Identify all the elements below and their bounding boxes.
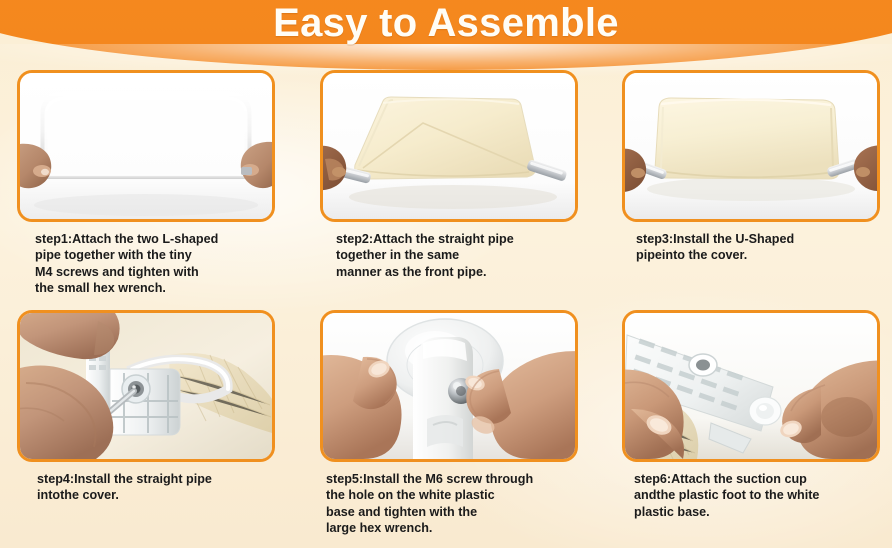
step-photo-4 — [17, 310, 275, 462]
step-caption-2: step2:Attach the straight pipe together … — [320, 231, 584, 280]
step-1-illustration — [20, 73, 272, 219]
step-6-illustration — [625, 313, 877, 459]
step-3-illustration — [625, 73, 877, 219]
left-hand-5 — [323, 355, 402, 459]
step-card-2: step2:Attach the straight pipe together … — [320, 70, 584, 280]
step-caption-1: step1:Attach the two L-shaped pipe toget… — [17, 231, 281, 297]
step-photo-2 — [320, 70, 578, 222]
step-card-3: step3:Install the U-Shaped pipeinto the … — [622, 70, 886, 264]
step-card-5: step5:Install the M6 screw through the h… — [320, 310, 584, 537]
assembly-instructions-page: Easy to Assemble — [0, 0, 892, 548]
page-title: Easy to Assemble — [0, 0, 892, 48]
step-photo-3 — [622, 70, 880, 222]
step-caption-5: step5:Install the M6 screw through the h… — [320, 471, 584, 537]
step-caption-3: step3:Install the U-Shaped pipeinto the … — [622, 231, 886, 264]
step-card-6: step6:Attach the suction cup andthe plas… — [622, 310, 886, 520]
step-photo-1 — [17, 70, 275, 222]
step-card-1: step1:Attach the two L-shaped pipe toget… — [17, 70, 281, 297]
step-caption-4: step4:Install the straight pipe intothe … — [17, 471, 281, 504]
step-2-illustration — [323, 73, 575, 219]
step-photo-6 — [622, 310, 880, 462]
step-4-illustration — [20, 313, 272, 459]
step-5-illustration — [323, 313, 575, 459]
step-caption-6: step6:Attach the suction cup andthe plas… — [622, 471, 886, 520]
step-card-4: step4:Install the straight pipe intothe … — [17, 310, 281, 504]
step-photo-5 — [320, 310, 578, 462]
